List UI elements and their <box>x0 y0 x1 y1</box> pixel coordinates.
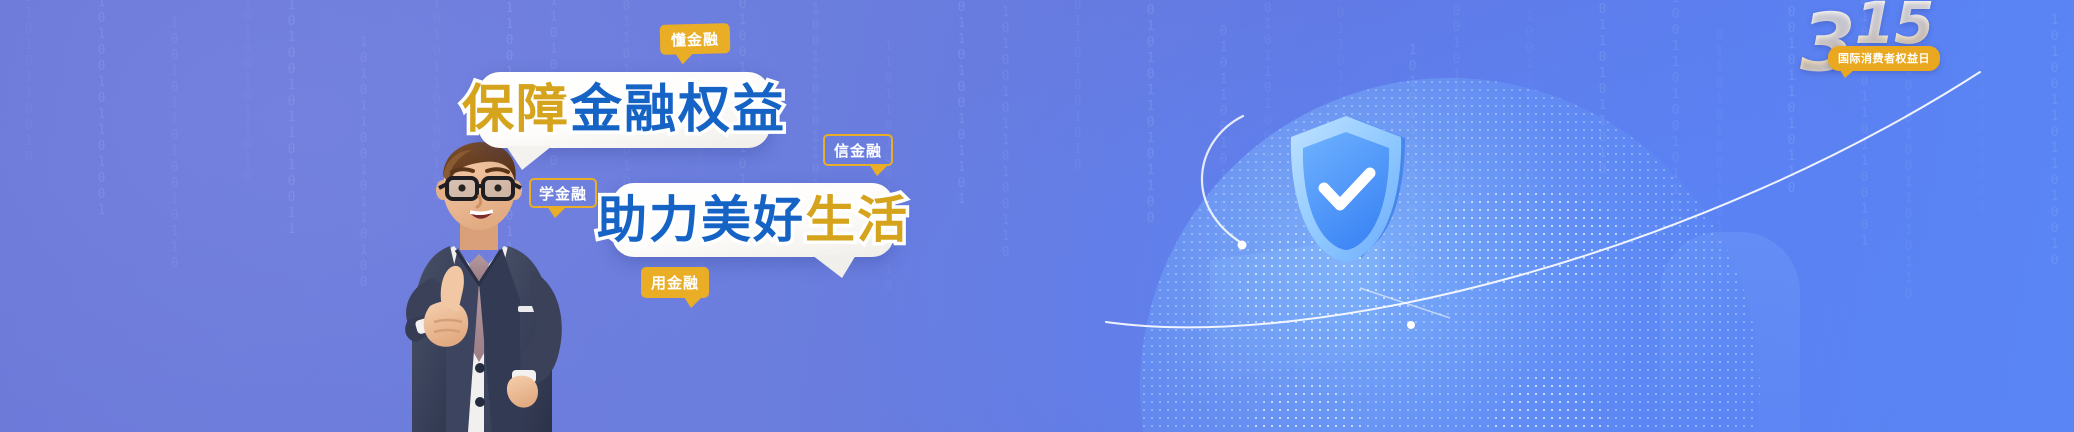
binary-code-column: 0101001101011010 <box>1592 0 1612 178</box>
tag-tail <box>675 53 693 64</box>
binary-code-column: 1010010110100110 <box>995 5 1015 261</box>
headline-line-2-gold: 生活 <box>805 195 909 245</box>
bubble-tail <box>812 255 856 278</box>
315-logo: 315 国际消费者权益日 <box>1800 0 1990 94</box>
headline-line-1-blue: 金融权益 <box>570 84 786 136</box>
binary-code-column: 1010011011010010 <box>2044 13 2064 269</box>
headline-line-1-gold: 保障 <box>462 84 570 136</box>
tag-tail <box>684 297 702 308</box>
binary-code-column: 0101100101101001 <box>1213 24 1233 280</box>
shield-check-icon <box>1283 112 1413 264</box>
tag-label: 用金融 <box>651 272 699 293</box>
binary-code-column: 1101001011010011 <box>281 0 301 238</box>
headline-line-1: 保障金融权益 <box>462 84 786 136</box>
tag-tail <box>869 164 889 176</box>
binary-code-column: 1001010110101100 <box>1140 0 1160 227</box>
tag-label: 学金融 <box>539 183 587 204</box>
315-number: 315 <box>1800 0 1933 84</box>
headline-line-2: 助力美好生活 <box>597 195 909 245</box>
tag-yong-jinrong: 用金融 <box>641 267 709 298</box>
binary-code-column: 1001101011010011 <box>1519 9 1539 265</box>
tower-silhouette <box>1660 232 1800 432</box>
headline-bubble-primary: 保障金融权益 <box>478 72 770 148</box>
binary-code-column: 1001011010010110 <box>164 16 184 272</box>
tag-tail <box>547 206 567 218</box>
binary-code-column: 1010011010110010 <box>18 0 38 166</box>
binary-code-column: 0101101001011010 <box>237 0 257 185</box>
binary-code-column: 0110100101101001 <box>91 0 111 219</box>
badge-tail <box>1840 70 1854 78</box>
bubble-tail <box>506 146 552 170</box>
tag-xin-jinrong: 信金融 <box>823 134 893 166</box>
tag-label: 懂金融 <box>671 28 720 50</box>
businessman-thumbs-up-illustration <box>372 130 587 432</box>
headline-bubble-secondary: 助力美好生活 <box>612 183 894 257</box>
tag-dong-jinrong: 懂金融 <box>660 23 731 55</box>
tag-xue-jinrong: 学金融 <box>529 178 597 208</box>
binary-code-column: 1100110100101101 <box>1665 0 1685 231</box>
tag-label: 信金融 <box>834 140 882 161</box>
consumer-rights-day-badge: 国际消费者权益日 <box>1828 46 1940 71</box>
binary-code-column: 1011001011010110 <box>1781 0 1801 197</box>
binary-code-column: 1110010110100101 <box>1257 0 1277 193</box>
badge-label: 国际消费者权益日 <box>1838 52 1930 65</box>
binary-code-column: 0010110100101101 <box>951 0 971 208</box>
binary-code-column: 0110010110110010 <box>1446 0 1466 212</box>
headline-line-2-blue: 助力美好 <box>597 195 805 245</box>
binary-code-column: 0110101101001010 <box>1067 0 1087 174</box>
binary-code-column: 1010110010110100 <box>353 35 373 291</box>
finance-315-banner: 1010011010110010011010010110100110010110… <box>0 0 2074 432</box>
